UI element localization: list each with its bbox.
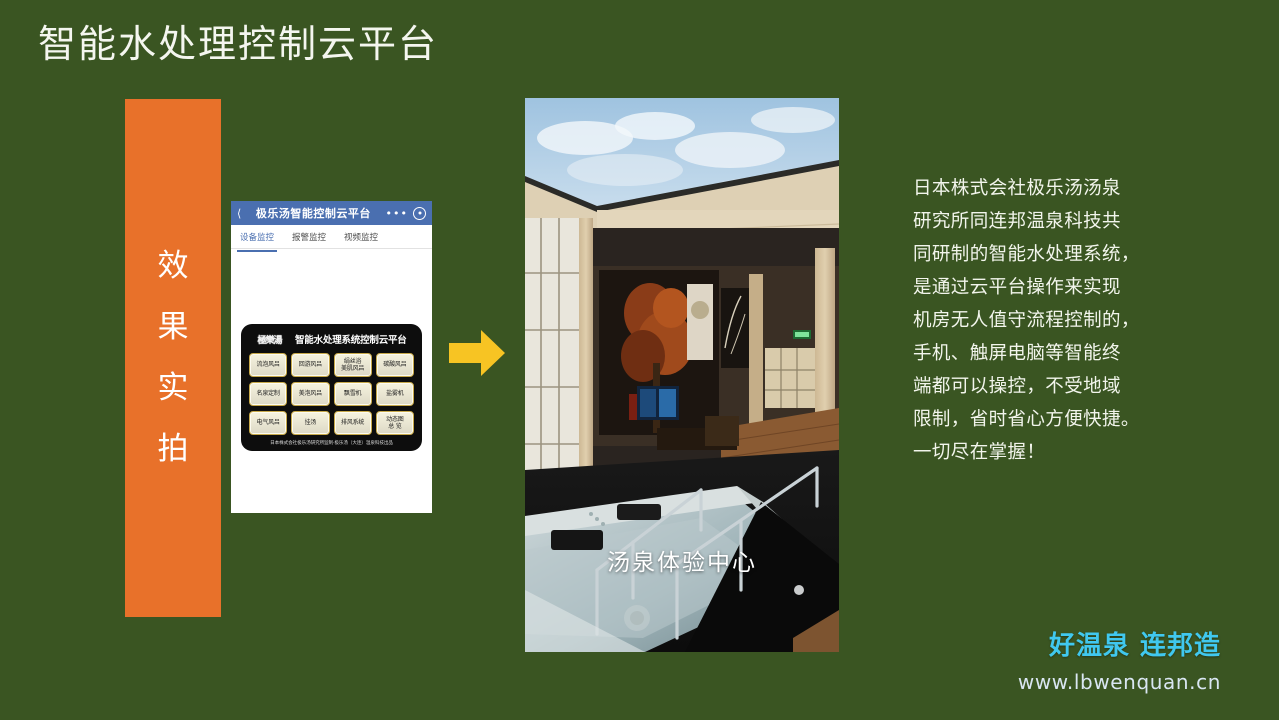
paragraph-line: 研究所同连邦温泉科技共 xyxy=(913,205,1193,238)
banner-char: 实 xyxy=(158,373,189,404)
paragraph-line: 日本株式会社极乐汤汤泉 xyxy=(913,172,1193,205)
control-button-label: 流泡风吕 xyxy=(257,361,280,369)
control-button[interactable]: 绢丝浴美肌风吕 xyxy=(334,353,372,377)
banner-label: 效 果 实 拍 xyxy=(158,251,189,465)
brand-url[interactable]: www.lbwenquan.cn xyxy=(1018,670,1221,694)
control-button-grid: 流泡风吕 回游风吕 绢丝浴美肌风吕 碳酸风吕 名泉定制 美泡风吕 飘雪机 盐雾机… xyxy=(249,353,414,435)
control-button[interactable]: 流泡风吕 xyxy=(249,353,287,377)
more-icon[interactable]: ••• xyxy=(386,208,408,219)
control-button[interactable]: 碳酸风吕 xyxy=(376,353,414,377)
section-banner: 效 果 实 拍 xyxy=(125,99,221,617)
control-panel-footer: 日本株式会社极乐汤研究所监制·极乐汤（大连）温泉科技出品 xyxy=(249,440,414,446)
control-button-label: 碳酸风吕 xyxy=(383,361,406,369)
control-button-label: 挂汤 xyxy=(305,419,317,427)
control-button[interactable]: 动态图总 览 xyxy=(376,411,414,435)
control-button[interactable]: 美泡风吕 xyxy=(291,382,329,406)
phone-app-title: 极乐汤智能控制云平台 xyxy=(246,205,380,221)
control-panel: 極樂湯 智能水处理系统控制云平台 流泡风吕 回游风吕 绢丝浴美肌风吕 碳酸风吕 … xyxy=(241,324,422,451)
control-button-label: 绢丝浴 xyxy=(344,358,361,366)
control-button-label-2: 总 览 xyxy=(388,423,401,431)
control-button[interactable]: 名泉定制 xyxy=(249,382,287,406)
control-button[interactable]: 盐雾机 xyxy=(376,382,414,406)
control-panel-title: 智能水处理系统控制云平台 xyxy=(295,332,407,346)
control-button[interactable]: 电气风吕 xyxy=(249,411,287,435)
banner-char: 效 xyxy=(158,251,189,282)
venue-photo: 汤泉体验中心 xyxy=(525,98,839,652)
paragraph-line: 同研制的智能水处理系统， xyxy=(913,238,1193,271)
brand-block: 好温泉 连邦造 www.lbwenquan.cn xyxy=(1018,625,1221,694)
control-button-label: 回游风吕 xyxy=(299,361,322,369)
chevron-left-icon[interactable]: ⟨ xyxy=(237,208,241,219)
paragraph-line: 手机、触屏电脑等智能终 xyxy=(913,337,1193,370)
description-paragraph: 日本株式会社极乐汤汤泉 研究所同连邦温泉科技共 同研制的智能水处理系统， 是通过… xyxy=(913,172,1193,469)
banner-char: 拍 xyxy=(158,434,189,465)
control-button-label: 排风系统 xyxy=(341,419,364,427)
phone-topbar: ⟨ 极乐汤智能控制云平台 ••• xyxy=(231,201,432,225)
tab-alarm-monitor[interactable]: 报警监控 xyxy=(291,227,327,247)
control-button-label: 盐雾机 xyxy=(386,390,403,398)
control-button-label: 动态图 xyxy=(386,416,403,424)
target-icon[interactable] xyxy=(413,207,426,220)
phone-tabbar: 设备监控 报警监控 视频监控 xyxy=(231,225,432,249)
page-title: 智能水处理控制云平台 xyxy=(38,22,438,68)
banner-char: 果 xyxy=(158,312,189,343)
control-button[interactable]: 排风系统 xyxy=(334,411,372,435)
paragraph-line: 是通过云平台操作来实现 xyxy=(913,271,1193,304)
paragraph-line: 限制，省时省心方便快捷。 xyxy=(913,403,1193,436)
photo-caption: 汤泉体验中心 xyxy=(525,543,839,577)
control-button-label: 名泉定制 xyxy=(257,390,280,398)
slide-root: 智能水处理控制云平台 效 果 实 拍 ⟨ 极乐汤智能控制云平台 ••• 设备监控… xyxy=(0,0,1279,720)
phone-screenshot: ⟨ 极乐汤智能控制云平台 ••• 设备监控 报警监控 视频监控 極樂湯 智能水处… xyxy=(231,201,432,513)
control-button-label: 电气风吕 xyxy=(257,419,280,427)
jiraku-yu-logo: 極樂湯 xyxy=(249,331,290,347)
paragraph-line: 一切尽在掌握！ xyxy=(913,436,1193,469)
control-panel-header: 極樂湯 智能水处理系统控制云平台 xyxy=(249,331,414,347)
control-button-label: 美泡风吕 xyxy=(299,390,322,398)
control-button-label: 飘雪机 xyxy=(344,390,361,398)
control-button[interactable]: 挂汤 xyxy=(291,411,329,435)
paragraph-line: 机房无人值守流程控制的， xyxy=(913,304,1193,337)
paragraph-line: 端都可以操控，不受地域 xyxy=(913,370,1193,403)
brand-slogan: 好温泉 连邦造 xyxy=(1018,625,1221,662)
tab-video-monitor[interactable]: 视频监控 xyxy=(343,227,379,247)
arrow-right-icon xyxy=(447,327,507,379)
control-button[interactable]: 回游风吕 xyxy=(291,353,329,377)
control-button-label-2: 美肌风吕 xyxy=(341,365,364,373)
control-button[interactable]: 飘雪机 xyxy=(334,382,372,406)
tab-device-monitor[interactable]: 设备监控 xyxy=(239,227,275,247)
